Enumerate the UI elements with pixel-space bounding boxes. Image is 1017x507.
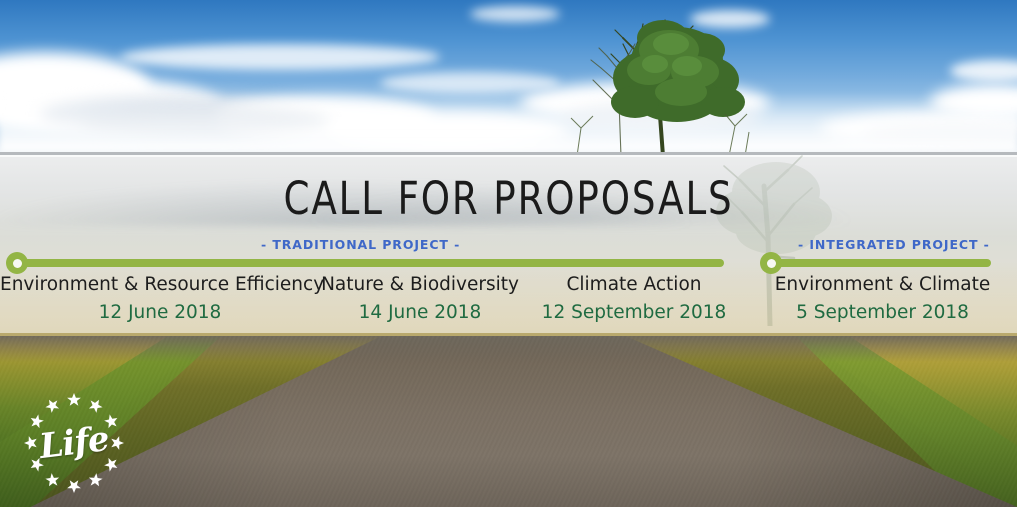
sky-photo: [0, 0, 1017, 152]
traditional-timeline-bar: [16, 259, 724, 267]
content-panel: CALL FOR PROPOSALS - TRADITIONAL PROJECT…: [0, 152, 1017, 336]
life-wordmark: Life: [37, 419, 110, 467]
call-for-proposals-banner: Life CALL FOR PROPOSALS - TRADITIONAL PR…: [0, 0, 1017, 507]
deadline-column: Nature & Biodiversity 14 June 2018: [320, 272, 520, 327]
deadline-date: 5 September 2018: [748, 298, 1017, 327]
road-photo: [0, 336, 1017, 507]
deadline-date: 12 September 2018: [520, 298, 748, 327]
panel-bottom-divider: [0, 333, 1017, 336]
deadline-category: Environment & Resource Efficiency: [0, 272, 320, 298]
deadline-category: Environment & Climate: [748, 272, 1017, 298]
deadline-column: Environment & Climate 5 September 2018: [748, 272, 1017, 327]
tree-illustration: [559, 6, 789, 152]
traditional-timeline-marker-icon: [6, 252, 28, 274]
integrated-timeline-bar: [770, 259, 991, 267]
page-title: CALL FOR PROPOSALS: [41, 172, 977, 225]
deadline-category: Climate Action: [520, 272, 748, 298]
integrated-project-label: - INTEGRATED PROJECT -: [798, 237, 990, 252]
deadline-column: Climate Action 12 September 2018: [520, 272, 748, 327]
integrated-timeline-marker-icon: [760, 252, 782, 274]
traditional-project-label: - TRADITIONAL PROJECT -: [261, 237, 460, 252]
deadline-columns: Environment & Resource Efficiency 12 Jun…: [0, 272, 1017, 336]
deadline-date: 14 June 2018: [320, 298, 520, 327]
life-logo: Life: [18, 392, 130, 494]
deadline-category: Nature & Biodiversity: [320, 272, 520, 298]
deadline-column: Environment & Resource Efficiency 12 Jun…: [0, 272, 320, 327]
deadline-date: 12 June 2018: [0, 298, 320, 327]
